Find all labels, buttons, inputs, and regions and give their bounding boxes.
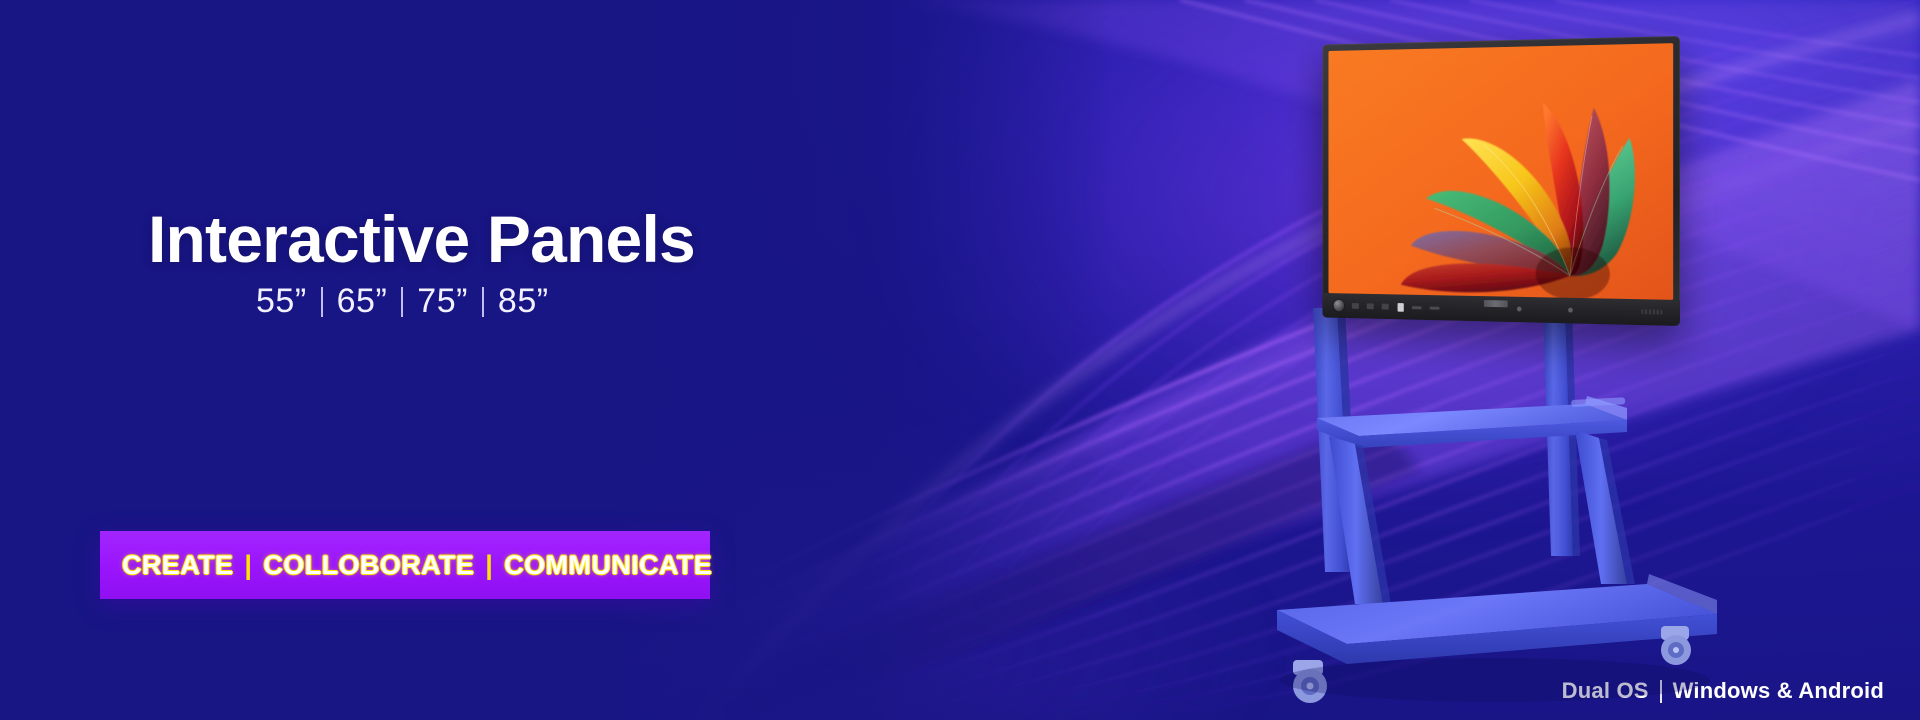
input-button-icon[interactable] — [1412, 306, 1422, 309]
size-option-65: 65” — [337, 283, 388, 320]
promo-banner: Interactive Panels 55” 65” 75” 85” CREAT… — [0, 0, 1920, 720]
brand-logo — [1484, 300, 1508, 307]
volume-down-button-icon[interactable] — [1367, 303, 1374, 309]
panel-screen — [1328, 43, 1673, 300]
tagline-word-communicate: COMMUNICATE — [504, 550, 712, 581]
speaker-grille-icon — [1641, 309, 1662, 314]
size-separator-3 — [482, 287, 484, 317]
size-separator-2 — [401, 287, 403, 317]
tagline-word-create: CREATE — [122, 550, 233, 581]
tagline-word-colloborate: COLLOBORATE — [263, 550, 474, 581]
tagline-separator-2: | — [485, 550, 493, 581]
size-option-85: 85” — [498, 283, 549, 320]
bezel-screw-right-icon — [1568, 308, 1573, 313]
bezel-screw-left-icon — [1517, 307, 1522, 312]
tagline-text: CREATE | COLLOBORATE | COMMUNICATE — [122, 550, 712, 581]
background-left-fade — [0, 0, 1114, 720]
home-button-icon[interactable] — [1430, 306, 1440, 309]
product-image — [1255, 36, 1895, 720]
page-title: Interactive Panels — [148, 206, 908, 273]
volume-up-button-icon[interactable] — [1382, 304, 1389, 310]
power-button-icon[interactable] — [1334, 300, 1344, 312]
size-option-55: 55” — [256, 283, 307, 320]
usb-port-icon — [1398, 303, 1404, 312]
size-options: 55” 65” 75” 85” — [148, 283, 908, 320]
size-separator-1 — [321, 287, 323, 317]
tagline-banner[interactable]: CREATE | COLLOBORATE | COMMUNICATE — [100, 531, 710, 599]
menu-button-icon[interactable] — [1352, 303, 1359, 309]
interactive-flat-panel — [1322, 36, 1680, 326]
headline-block: Interactive Panels 55” 65” 75” 85” — [148, 206, 908, 321]
tagline-separator-1: | — [244, 550, 252, 581]
mobile-trolley-stand — [1255, 308, 1735, 720]
size-option-75: 75” — [417, 283, 468, 320]
